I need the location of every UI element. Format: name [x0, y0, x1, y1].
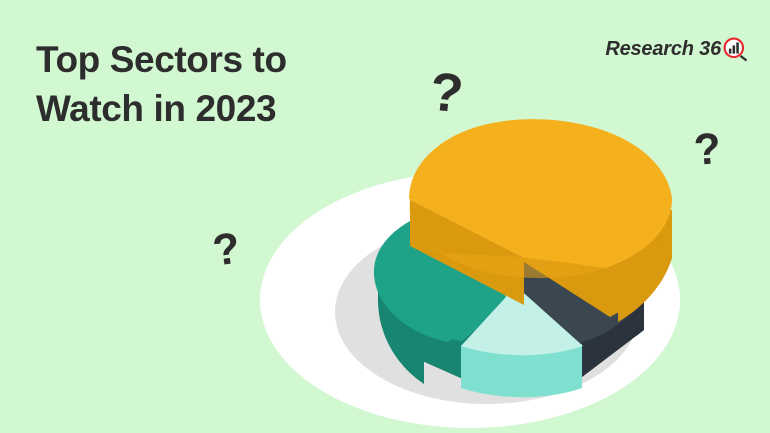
logo-bar-3 — [736, 42, 739, 53]
magnifier-bar-chart-icon — [722, 36, 748, 62]
logo-bar-2 — [733, 45, 736, 53]
page-title-line-2: Watch in 2023 — [36, 85, 376, 134]
banner-canvas: Top Sectors to Watch in 2023 Research 36… — [0, 0, 770, 433]
magnifier-handle — [740, 55, 747, 61]
brand-logo-text: Research 36 — [605, 38, 721, 61]
page-title-line-1: Top Sectors to — [36, 36, 376, 85]
question-mark-right: ? — [692, 127, 722, 173]
logo-bar-1 — [729, 49, 732, 54]
question-mark-top: ? — [427, 64, 465, 121]
page-title: Top Sectors to Watch in 2023 — [36, 36, 376, 134]
brand-logo[interactable]: Research 36 — [605, 36, 748, 62]
